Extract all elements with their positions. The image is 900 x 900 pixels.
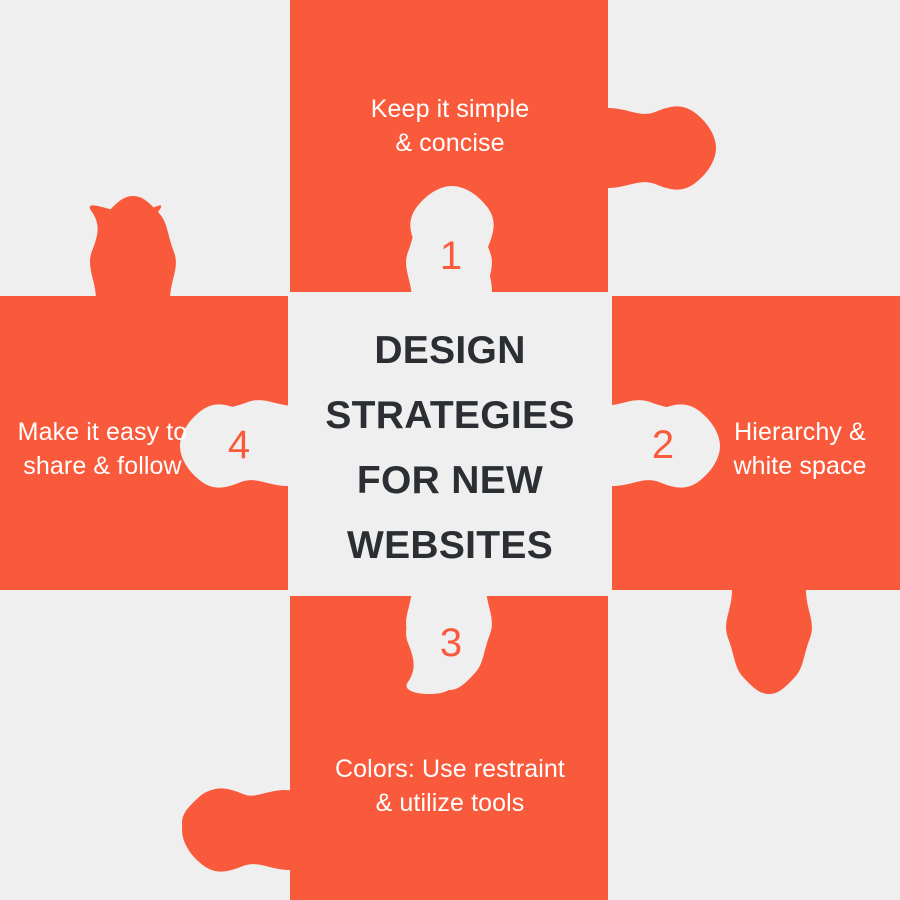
- puzzle-diagram: [0, 0, 900, 900]
- infographic-canvas: DESIGN STRATEGIES FOR NEW WEBSITES Keep …: [0, 0, 900, 900]
- center-body: [292, 296, 606, 590]
- puzzle-knob-bottom-left: [182, 789, 286, 856]
